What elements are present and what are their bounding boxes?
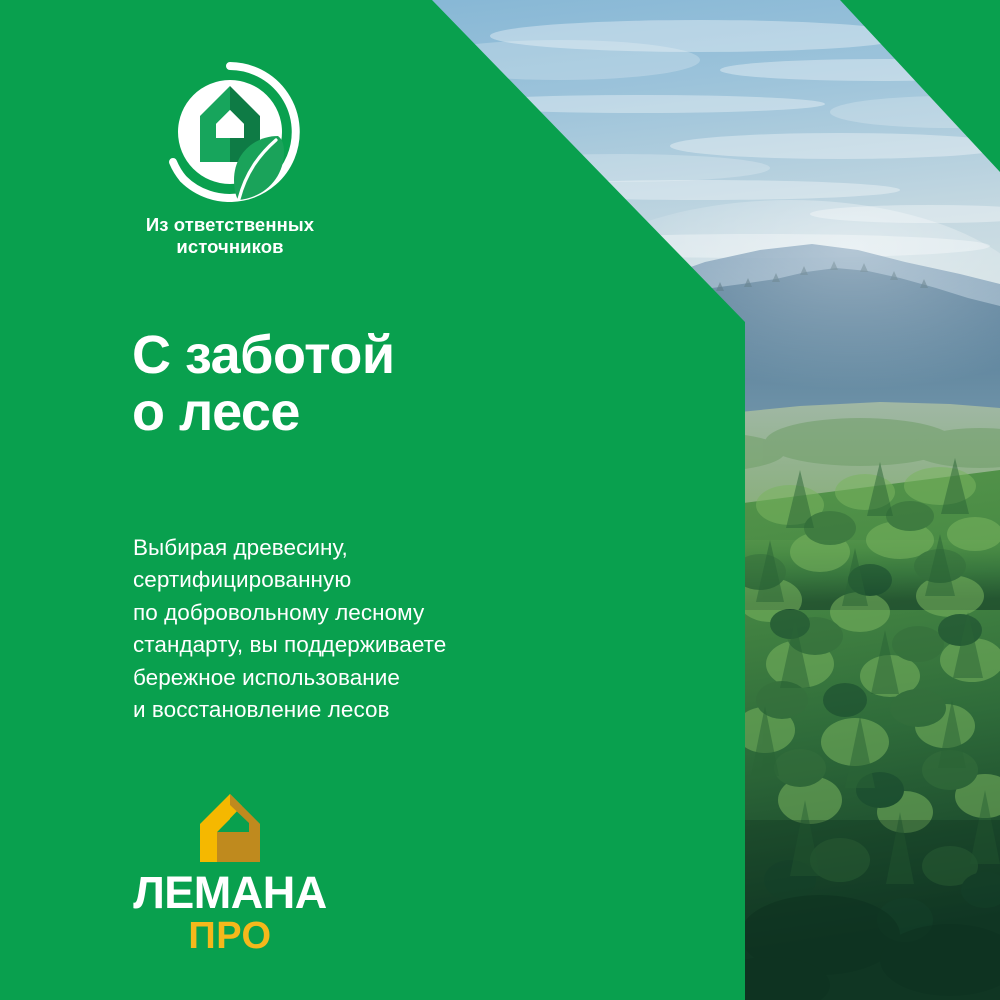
brand-lockup: ЛЕМАНА ПРО <box>131 792 329 955</box>
lemana-house-icon <box>192 792 268 864</box>
body-paragraph: Выбирая древесину, сертифицированную по … <box>133 532 446 726</box>
poster-content: Из ответственных источников С заботой о … <box>0 0 1000 1000</box>
page-title: С заботой о лесе <box>132 327 395 441</box>
brand-name: ЛЕМАНА <box>131 870 329 915</box>
certification-badge-caption: Из ответственных источников <box>130 214 330 258</box>
certification-badge: Из ответственных источников <box>130 62 330 258</box>
brand-subname: ПРО <box>131 917 329 955</box>
house-leaf-circle-emblem-icon <box>160 62 300 202</box>
poster-canvas: Из ответственных источников С заботой о … <box>0 0 1000 1000</box>
